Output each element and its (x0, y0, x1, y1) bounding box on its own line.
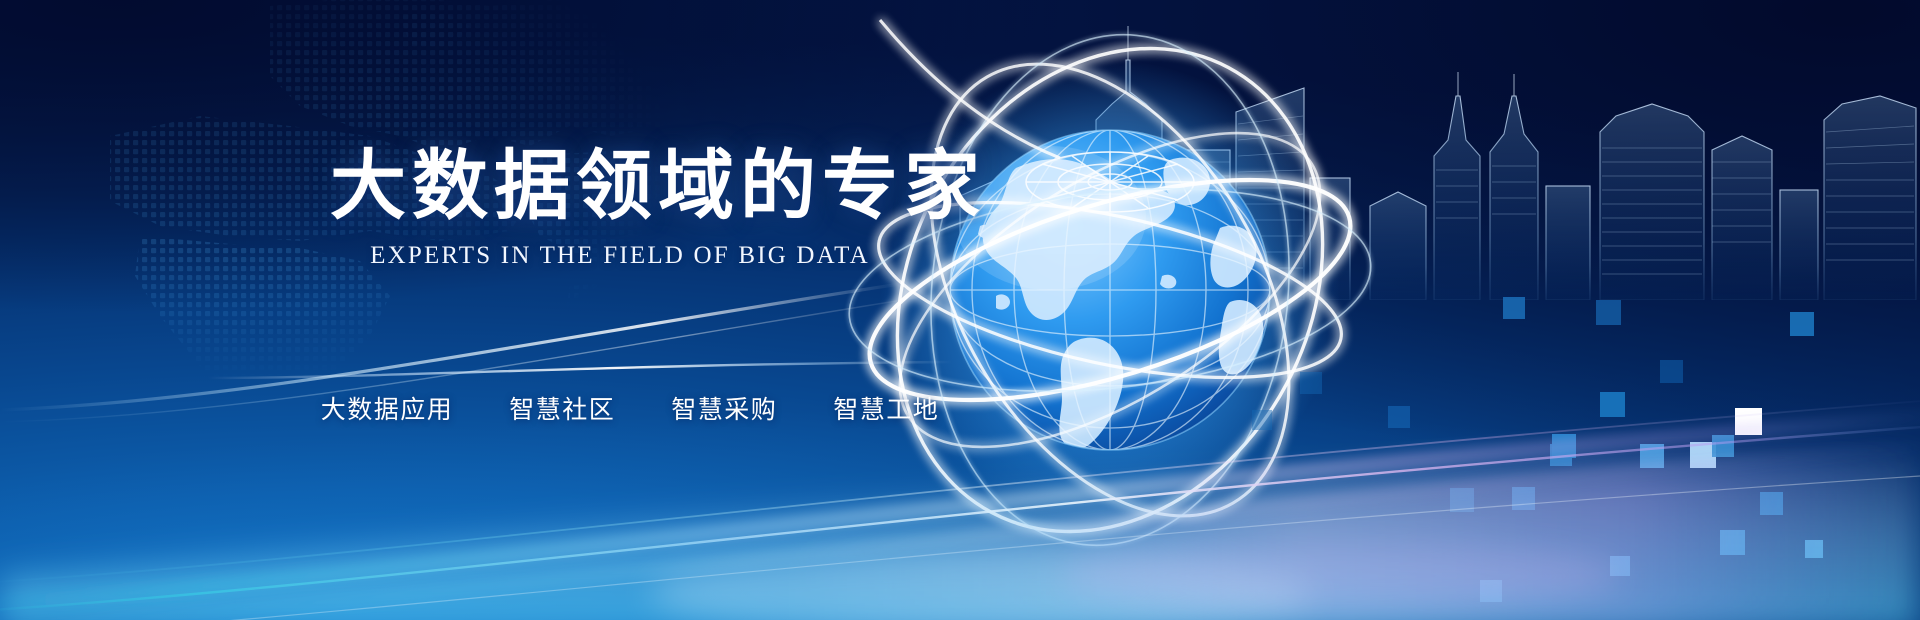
pixel-square (1480, 580, 1502, 602)
city-skyline-graphic (900, 0, 1920, 300)
page-subtitle: EXPERTS IN THE FIELD OF BIG DATA (330, 242, 910, 270)
keyword-nav[interactable]: 大数据应用 智慧社区 智慧采购 智慧工地 (330, 390, 930, 426)
pixel-square (1690, 442, 1716, 468)
divider-glow (200, 358, 960, 384)
keyword-link-smart-construction[interactable]: 智慧工地 (833, 390, 939, 426)
pixel-squares-graphic (0, 0, 1920, 620)
pixel-square (1805, 540, 1823, 558)
pixel-square (1640, 444, 1664, 468)
keyword-link-smart-community[interactable]: 智慧社区 (509, 390, 615, 426)
pixel-square (1600, 392, 1625, 417)
aurora-sweep-graphic (0, 380, 1920, 620)
background-vignette-top (0, 0, 1920, 620)
pixel-square (1550, 444, 1572, 466)
pixel-square (1596, 300, 1621, 325)
pixel-square (1660, 360, 1683, 383)
background-vignette-bottom (0, 0, 1920, 620)
pixel-square (1735, 408, 1762, 435)
pixel-square (1512, 487, 1535, 510)
pixel-square (1388, 406, 1410, 428)
pixel-square (1790, 312, 1814, 336)
pixel-square (1712, 435, 1734, 457)
pixel-square (1760, 492, 1783, 515)
keyword-link-big-data-application[interactable]: 大数据应用 (321, 390, 454, 426)
keyword-link-smart-procurement[interactable]: 智慧采购 (671, 390, 777, 426)
pixel-square (1450, 488, 1474, 512)
big-data-banner: 大数据领域的专家 EXPERTS IN THE FIELD OF BIG DAT… (0, 0, 1920, 620)
pixel-square (1720, 530, 1745, 555)
pixel-square (1610, 556, 1630, 576)
globe-graphic (810, 40, 1330, 540)
pixel-square (1300, 372, 1322, 394)
headline-block: 大数据领域的专家 EXPERTS IN THE FIELD OF BIG DAT… (330, 148, 910, 270)
pixel-square (1503, 297, 1525, 319)
page-title: 大数据领域的专家 (330, 148, 910, 224)
pixel-square (1252, 410, 1272, 430)
pixel-square (1552, 434, 1576, 458)
